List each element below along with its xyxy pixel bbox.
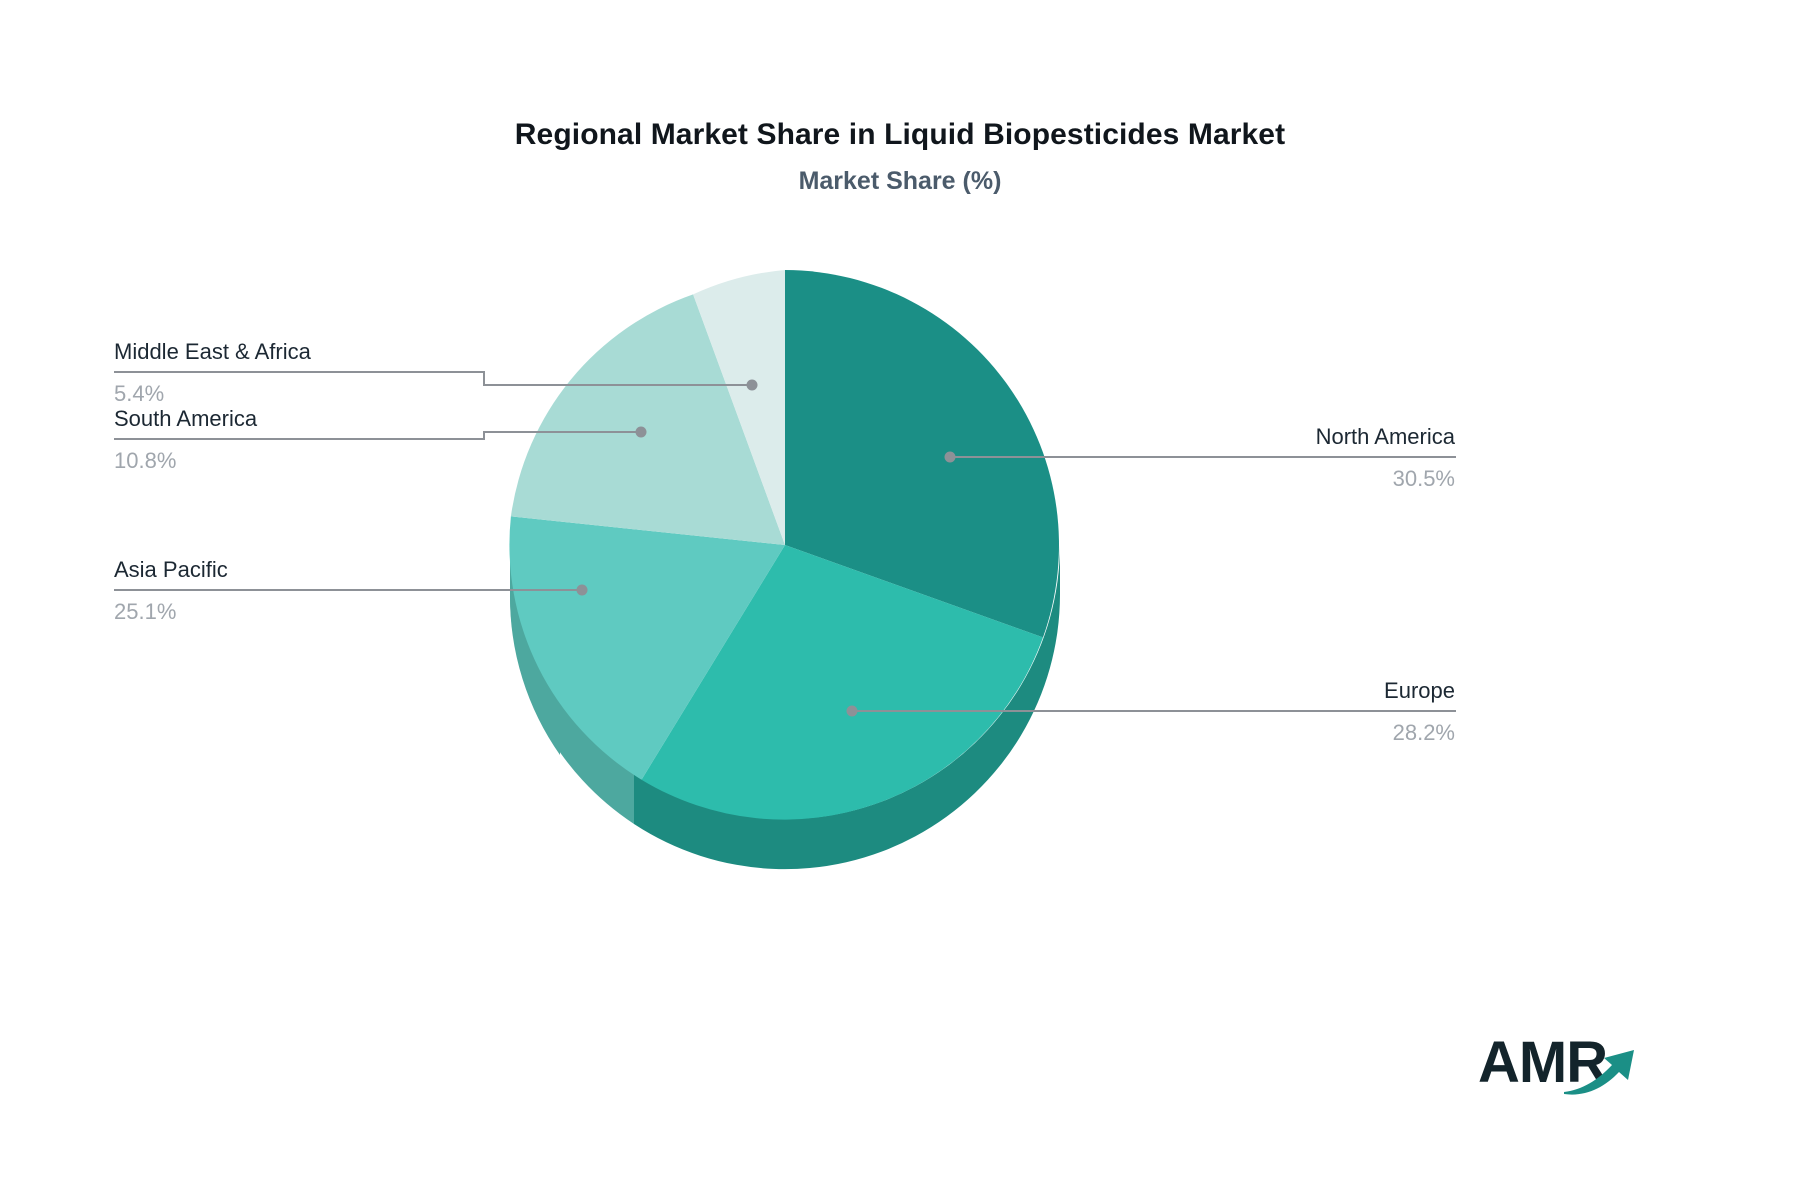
callout-north-america: North America 30.5% [1316, 426, 1455, 490]
callout-label-middle-east-africa: Middle East & Africa [114, 341, 311, 372]
callout-value-asia-pacific: 25.1% [114, 590, 228, 623]
callout-asia-pacific: Asia Pacific 25.1% [114, 559, 228, 623]
pie-top-face [509, 270, 1059, 820]
leader-dot-south-america [636, 427, 647, 438]
pie-chart-figure: Regional Market Share in Liquid Biopesti… [0, 0, 1800, 1196]
callout-value-middle-east-africa: 5.4% [114, 372, 311, 405]
amr-logo: AMR [1478, 1032, 1658, 1108]
callout-europe: Europe 28.2% [1384, 680, 1455, 744]
pie-svg-stage [0, 0, 1800, 1196]
callout-value-europe: 28.2% [1384, 711, 1455, 744]
leader-dot-middle-east-africa [747, 380, 758, 391]
callout-south-america: South America 10.8% [114, 408, 257, 472]
leader-dot-asia-pacific [577, 585, 588, 596]
callout-value-south-america: 10.8% [114, 439, 257, 472]
callout-value-north-america: 30.5% [1316, 457, 1455, 490]
callout-middle-east-africa: Middle East & Africa 5.4% [114, 341, 311, 405]
callout-label-asia-pacific: Asia Pacific [114, 559, 228, 590]
callout-label-europe: Europe [1384, 680, 1455, 711]
leader-dot-north-america [945, 452, 956, 463]
leader-dot-europe [847, 706, 858, 717]
amr-arrow-icon [1478, 1032, 1658, 1108]
callout-label-south-america: South America [114, 408, 257, 439]
callout-label-north-america: North America [1316, 426, 1455, 457]
